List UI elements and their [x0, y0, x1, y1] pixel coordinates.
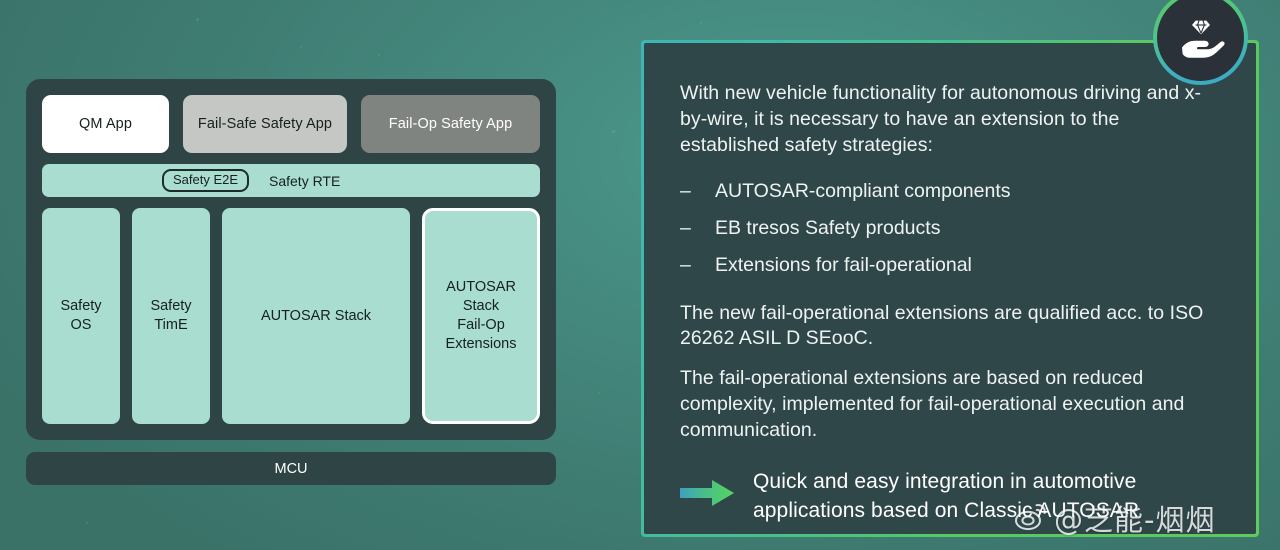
architecture-diagram: QM App Fail-Safe Safety App Fail-Op Safe…	[26, 79, 556, 485]
decorative-speck	[612, 130, 615, 133]
safety-e2e-badge: Safety E2E	[162, 169, 249, 192]
card-paragraph-three: The fail-operational extensions are base…	[680, 366, 1222, 444]
list-item: Extensions for fail-operational	[680, 253, 1222, 279]
slide-canvas: QM App Fail-Safe Safety App Fail-Op Safe…	[0, 0, 1280, 550]
card-bullet-list: AUTOSAR-compliant components EB tresos S…	[680, 179, 1222, 279]
safety-rte-label: Safety RTE	[269, 173, 340, 189]
card-paragraph-two: The new fail-operational extensions are …	[680, 301, 1222, 353]
decorative-speck	[700, 22, 702, 24]
list-item: EB tresos Safety products	[680, 216, 1222, 242]
safety-rte-bar: Safety E2E Safety RTE	[42, 164, 540, 197]
stack-box-autosar-fail-op-extensions: AUTOSAR Stack Fail-Op Extensions	[422, 208, 540, 424]
info-card-border: With new vehicle functionality for auton…	[641, 40, 1259, 537]
software-stack-panel: QM App Fail-Safe Safety App Fail-Op Safe…	[26, 79, 556, 440]
card-callout: Quick and easy integration in automotive…	[680, 468, 1240, 526]
mcu-bar: MCU	[26, 452, 556, 485]
stack-box-autosar-stack: AUTOSAR Stack	[222, 208, 410, 424]
decorative-speck	[378, 54, 380, 56]
decorative-speck	[86, 522, 88, 524]
decorative-speck	[196, 18, 199, 21]
card-callout-text: Quick and easy integration in automotive…	[753, 468, 1240, 526]
stack-box-safety-time: Safety TimE	[132, 208, 210, 424]
app-box-fail-safe: Fail-Safe Safety App	[183, 95, 347, 153]
card-intro-paragraph: With new vehicle functionality for auton…	[680, 81, 1222, 159]
application-layer-row: QM App Fail-Safe Safety App Fail-Op Safe…	[42, 95, 540, 153]
info-card: With new vehicle functionality for auton…	[644, 43, 1256, 534]
basic-software-row: Safety OS Safety TimE AUTOSAR Stack AUTO…	[42, 208, 540, 424]
hand-holding-diamond-icon	[1157, 0, 1244, 81]
stack-box-safety-os: Safety OS	[42, 208, 120, 424]
app-box-qm: QM App	[42, 95, 169, 153]
arrow-right-icon	[680, 480, 734, 511]
decorative-speck	[598, 392, 600, 394]
list-item: AUTOSAR-compliant components	[680, 179, 1222, 205]
app-box-fail-op: Fail-Op Safety App	[361, 95, 540, 153]
decorative-speck	[300, 46, 302, 48]
